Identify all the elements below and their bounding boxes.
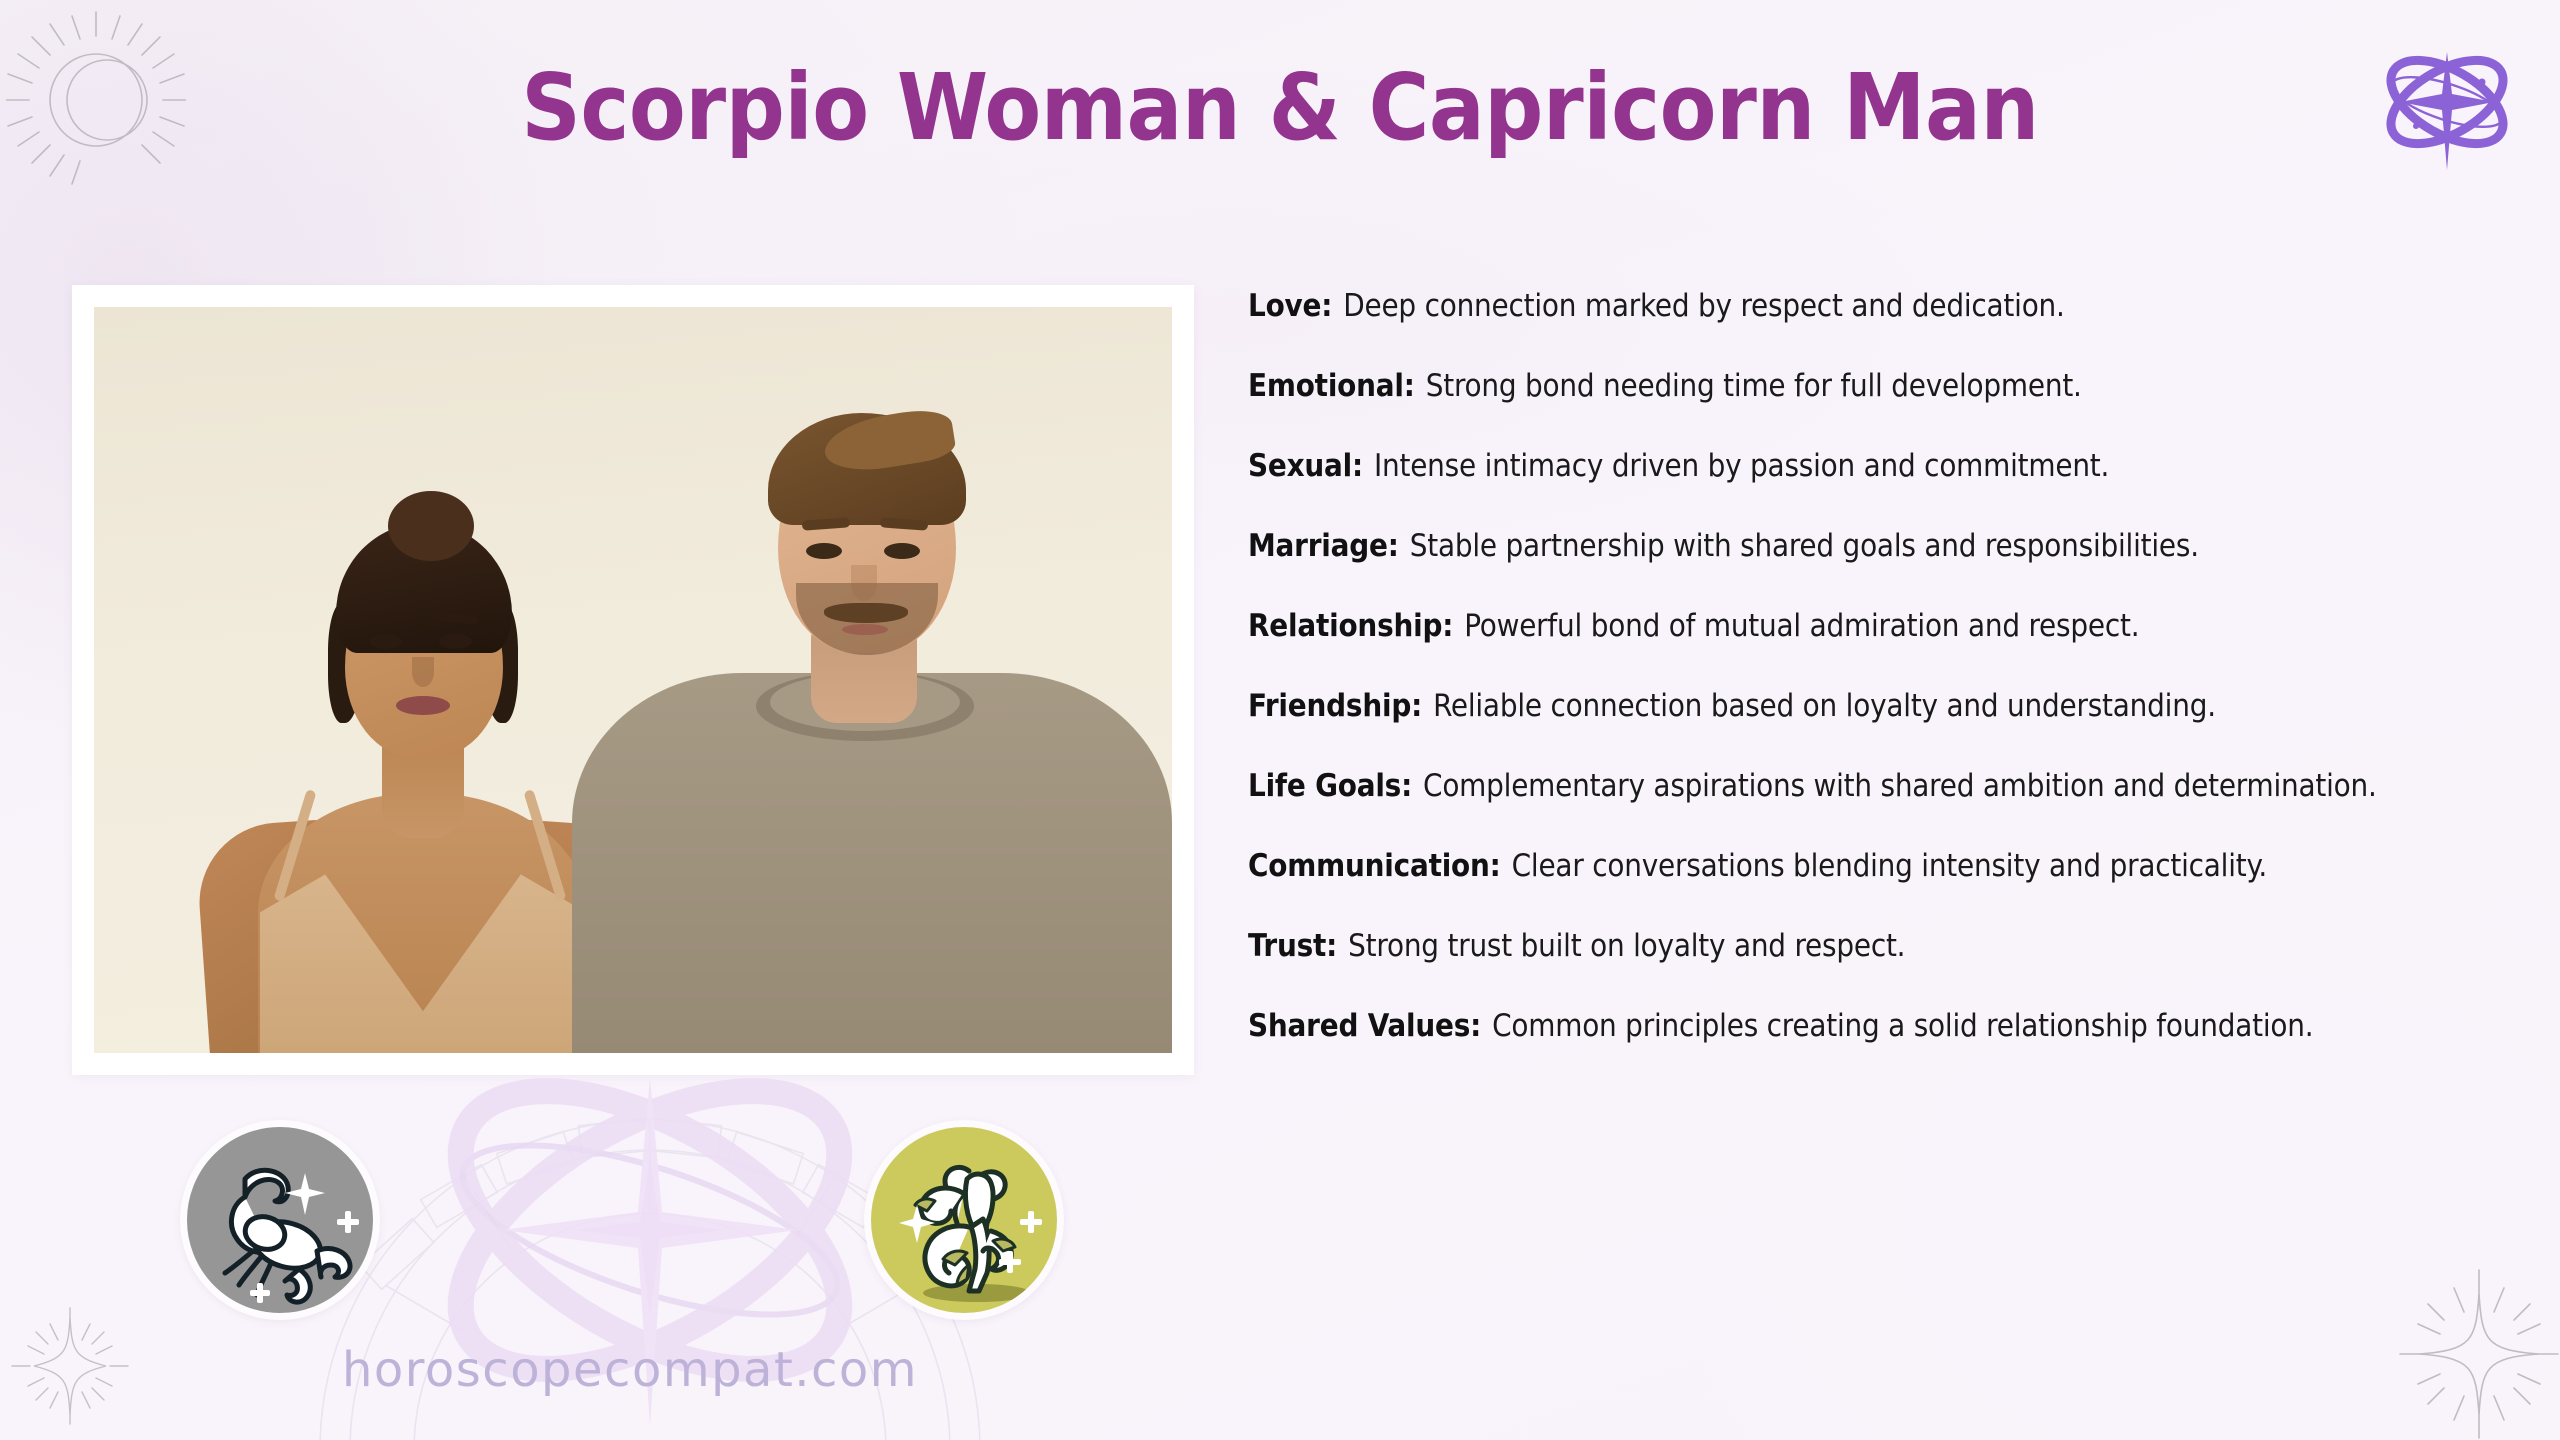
trait-label: Life Goals:	[1248, 768, 1412, 804]
couple-photo-frame	[72, 285, 1194, 1075]
atom-star-logo-icon[interactable]	[2372, 38, 2522, 178]
trait-row: Life Goals: Complementary aspirations wi…	[1248, 768, 2518, 848]
trait-row: Shared Values: Common principles creatin…	[1248, 1008, 2518, 1088]
trait-text: Strong bond needing time for full develo…	[1426, 368, 2082, 404]
trait-row: Love: Deep connection marked by respect …	[1248, 288, 2518, 368]
trait-label: Marriage:	[1248, 528, 1399, 564]
site-url[interactable]: horoscopecompat.com	[0, 1342, 1260, 1398]
trait-row: Trust: Strong trust built on loyalty and…	[1248, 928, 2518, 1008]
trait-text: Intense intimacy driven by passion and c…	[1374, 448, 2109, 484]
trait-text: Strong trust built on loyalty and respec…	[1348, 928, 1905, 964]
page-title: Scorpio Woman & Capricorn Man	[0, 62, 2560, 154]
trait-label: Love:	[1248, 288, 1332, 324]
trait-label: Emotional:	[1248, 368, 1415, 404]
trait-text: Reliable connection based on loyalty and…	[1433, 688, 2216, 724]
trait-label: Trust:	[1248, 928, 1337, 964]
capricorn-man-figure	[524, 353, 1172, 1053]
page-header: Scorpio Woman & Capricorn Man	[0, 0, 2560, 200]
trait-text: Powerful bond of mutual admiration and r…	[1464, 608, 2139, 644]
trait-text: Complementary aspirations with shared am…	[1423, 768, 2377, 804]
trait-text: Deep connection marked by respect and de…	[1343, 288, 2065, 324]
trait-row: Relationship: Powerful bond of mutual ad…	[1248, 608, 2518, 688]
trait-row: Marriage: Stable partnership with shared…	[1248, 528, 2518, 608]
trait-label: Relationship:	[1248, 608, 1453, 644]
trait-row: Emotional: Strong bond needing time for …	[1248, 368, 2518, 448]
trait-label: Friendship:	[1248, 688, 1422, 724]
trait-text: Common principles creating a solid relat…	[1492, 1008, 2313, 1044]
trait-label: Sexual:	[1248, 448, 1363, 484]
trait-text: Stable partnership with shared goals and…	[1410, 528, 2199, 564]
trait-row: Friendship: Reliable connection based on…	[1248, 688, 2518, 768]
capricorn-badge[interactable]	[864, 1120, 1064, 1320]
compatibility-traits-list: Love: Deep connection marked by respect …	[1248, 288, 2518, 1088]
trait-row: Communication: Clear conversations blend…	[1248, 848, 2518, 928]
trait-label: Shared Values:	[1248, 1008, 1481, 1044]
scorpio-badge[interactable]	[180, 1120, 380, 1320]
trait-label: Communication:	[1248, 848, 1501, 884]
couple-photo	[94, 307, 1172, 1053]
trait-row: Sexual: Intense intimacy driven by passi…	[1248, 448, 2518, 528]
trait-text: Clear conversations blending intensity a…	[1512, 848, 2267, 884]
